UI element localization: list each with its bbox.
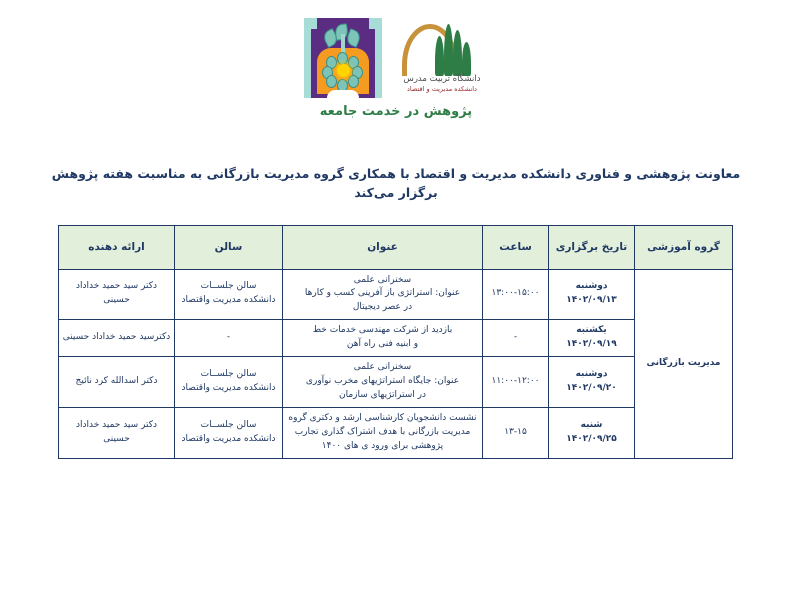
title-cell: سخنرانی علمی عنوان: استراتژی باز آفرینی … [283, 269, 483, 320]
date-value: ۱۴۰۲/۰۹/۲۵ [552, 433, 631, 447]
title-cell: سخنرانی علمی عنوان: جایگاه استراتژیهای م… [283, 357, 483, 408]
header-group: گروه آموزشی [635, 225, 733, 269]
schedule-table-wrapper: گروه آموزشی تاریخ برگزاری ساعت عنوان سال… [59, 225, 733, 459]
hall-line: سالن جلســات [178, 368, 279, 382]
time-cell: ۱۳-۱۵ [483, 408, 549, 459]
title-line: پژوهشی برای ورود ی های ۱۴۰۰ [286, 440, 479, 454]
hall-line: سالن جلســات [178, 280, 279, 294]
title-line: نشست دانشجویان کارشناسی ارشد و دکتری گرو… [286, 412, 479, 426]
title-cell: نشست دانشجویان کارشناسی ارشد و دکتری گرو… [283, 408, 483, 459]
header-hall: سالن [175, 225, 283, 269]
header-logos: دانشگاه تربیت مدرس دانشکده مدیریت و اقتص… [0, 0, 792, 92]
time-cell: ۱۳:۰۰-۱۵:۰۰ [483, 269, 549, 320]
date-day: دوشنبه [552, 368, 631, 382]
title-line: عنوان: جایگاه استراتژیهای مخرب نوآوری [286, 375, 479, 389]
title-line: مدیریت بازرگانی با هدف اشتراک گذاری تجار… [286, 426, 479, 440]
table-body: مدیریت بازرگانی دوشنبه ۱۴۰۲/۰۹/۱۳ ۱۳:۰۰-… [59, 269, 733, 458]
time-cell: ۱۱:۰۰-۱۲:۰۰ [483, 357, 549, 408]
presenter-cell: دکتر اسدالله کرد نائیج [59, 357, 175, 408]
schedule-table: گروه آموزشی تاریخ برگزاری ساعت عنوان سال… [58, 225, 733, 459]
hall-line: دانشکده مدیریت واقتصاد [178, 382, 279, 396]
tarbiat-modares-university-logo: دانشگاه تربیت مدرس دانشکده مدیریت و اقتص… [396, 18, 488, 92]
date-cell: شنبه ۱۴۰۲/۰۹/۲۵ [549, 408, 635, 459]
page-title: معاونت پژوهشی و فناوری دانشکده مدیریت و … [0, 165, 792, 203]
table-row: شنبه ۱۴۰۲/۰۹/۲۵ ۱۳-۱۵ نشست دانشجویان کار… [59, 408, 733, 459]
hall-line: دانشکده مدیریت واقتصاد [178, 294, 279, 308]
title-line: سخنرانی علمی [286, 361, 479, 375]
presenter-cell: دکتر سید حمید خداداد حسینی [59, 269, 175, 320]
hall-cell: سالن جلســات دانشکده مدیریت واقتصاد [175, 357, 283, 408]
date-value: ۱۴۰۲/۰۹/۲۰ [552, 382, 631, 396]
header-time: ساعت [483, 225, 549, 269]
group-cell: مدیریت بازرگانی [635, 269, 733, 458]
presenter-cell: دکترسید حمید خداداد حسینی [59, 320, 175, 357]
title-line: سخنرانی علمی [286, 274, 479, 288]
tagline: پژوهش در خدمت جامعه [0, 104, 792, 119]
time-cell: - [483, 320, 549, 357]
date-day: دوشنبه [552, 280, 631, 294]
hall-cell: - [175, 320, 283, 357]
title-line: عنوان: استراتژی باز آفرینی کسب و کارها [286, 287, 479, 301]
table-row: یکشنبه ۱۴۰۲/۰۹/۱۹ - بازدید از شرکت مهندس… [59, 320, 733, 357]
hall-line: سالن جلســات [178, 419, 279, 433]
research-week-emblem [304, 18, 382, 98]
hall-cell: سالن جلســات دانشکده مدیریت واقتصاد [175, 269, 283, 320]
title-line: در استراتژیهای سازمان [286, 389, 479, 403]
title-line: بازدید از شرکت مهندسی خدمات خط [286, 324, 479, 338]
title-cell: بازدید از شرکت مهندسی خدمات خط و ابنیه ف… [283, 320, 483, 357]
faculty-name-text: دانشکده مدیریت و اقتصاد [396, 85, 488, 93]
table-row: مدیریت بازرگانی دوشنبه ۱۴۰۲/۰۹/۱۳ ۱۳:۰۰-… [59, 269, 733, 320]
date-day: شنبه [552, 419, 631, 433]
date-cell: دوشنبه ۱۴۰۲/۰۹/۱۳ [549, 269, 635, 320]
table-row: دوشنبه ۱۴۰۲/۰۹/۲۰ ۱۱:۰۰-۱۲:۰۰ سخنرانی عل… [59, 357, 733, 408]
table-header-row: گروه آموزشی تاریخ برگزاری ساعت عنوان سال… [59, 225, 733, 269]
presenter-cell: دکتر سید حمید خداداد حسینی [59, 408, 175, 459]
title-line: و ابنیه فنی راه آهن [286, 338, 479, 352]
date-cell: یکشنبه ۱۴۰۲/۰۹/۱۹ [549, 320, 635, 357]
hall-line: دانشکده مدیریت واقتصاد [178, 433, 279, 447]
date-value: ۱۴۰۲/۰۹/۱۹ [552, 338, 631, 352]
header-date: تاریخ برگزاری [549, 225, 635, 269]
title-line: در عصر دیجیتال [286, 301, 479, 315]
date-cell: دوشنبه ۱۴۰۲/۰۹/۲۰ [549, 357, 635, 408]
header-title: عنوان [283, 225, 483, 269]
cypress-trees-icon [434, 20, 472, 76]
header-presenter: ارائه دهنده [59, 225, 175, 269]
date-day: یکشنبه [552, 324, 631, 338]
hall-cell: سالن جلســات دانشکده مدیریت واقتصاد [175, 408, 283, 459]
flower-center-icon [337, 64, 350, 77]
university-name-text: دانشگاه تربیت مدرس [396, 74, 488, 85]
date-value: ۱۴۰۲/۰۹/۱۳ [552, 294, 631, 308]
